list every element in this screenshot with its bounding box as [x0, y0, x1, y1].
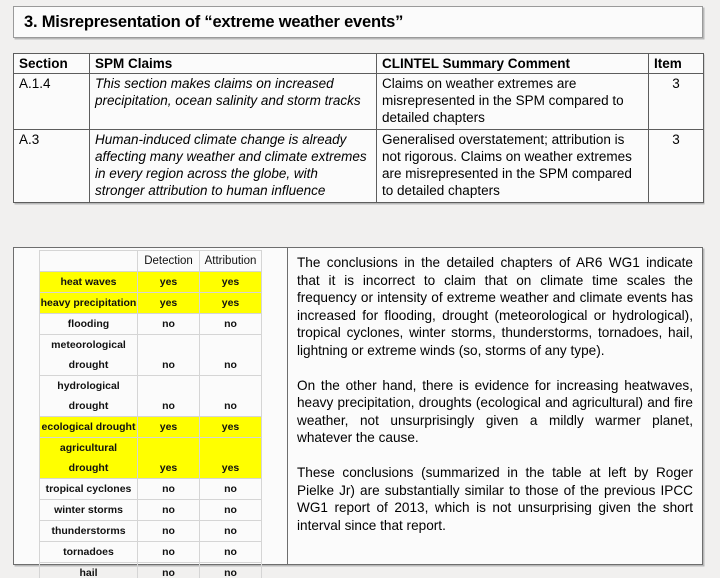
pielke-table-body: heat wavesyesyesheavy precipitationyesye…: [40, 272, 262, 578]
pielke-cell-label: heat waves: [40, 272, 138, 293]
table-row: A.3 Human-induced climate change is alre…: [14, 130, 704, 203]
pielke-cell-attribution: [200, 438, 262, 459]
pielke-cell-label: hail: [40, 563, 138, 578]
pielke-cell-detection: yes: [138, 272, 200, 293]
commentary-paragraph: These conclusions (summarized in the tab…: [297, 464, 693, 534]
table-row: heat wavesyesyes: [40, 272, 262, 293]
pielke-cell-detection: no: [138, 479, 200, 500]
pielke-cell-label: drought: [40, 458, 138, 479]
header-item: Item: [649, 54, 704, 74]
cell-item: 3: [649, 74, 704, 130]
table-row: agricultural: [40, 438, 262, 459]
pielke-cell-attribution: yes: [200, 458, 262, 479]
page-title: 3. Misrepresentation of “extreme weather…: [14, 13, 403, 32]
pielke-cell-detection: [138, 438, 200, 459]
table-row: tornadoesnono: [40, 542, 262, 563]
table-row: hailnono: [40, 563, 262, 578]
lower-panel: Detection Attribution heat wavesyesyeshe…: [13, 247, 703, 565]
pielke-cell-detection: no: [138, 396, 200, 417]
table-row: A.1.4 This section makes claims on incre…: [14, 74, 704, 130]
pielke-cell-label: hydrological: [40, 376, 138, 397]
pielke-cell-attribution: no: [200, 500, 262, 521]
pielke-table-pane: Detection Attribution heat wavesyesyeshe…: [14, 248, 288, 564]
pielke-cell-detection: no: [138, 355, 200, 376]
commentary-pane: The conclusions in the detailed chapters…: [288, 248, 702, 564]
commentary-paragraph: The conclusions in the detailed chapters…: [297, 254, 693, 360]
pielke-cell-attribution: no: [200, 521, 262, 542]
slide-page: 3. Misrepresentation of “extreme weather…: [0, 0, 720, 578]
cell-section: A.3: [14, 130, 90, 203]
pielke-cell-attribution: no: [200, 355, 262, 376]
pielke-cell-detection: yes: [138, 293, 200, 314]
table-row: winter stormsnono: [40, 500, 262, 521]
claims-table-header-row: Section SPM Claims CLINTEL Summary Comme…: [14, 54, 704, 74]
cell-clintel-comment: Generalised overstatement; attribution i…: [377, 130, 649, 203]
pielke-cell-label: agricultural: [40, 438, 138, 459]
pielke-cell-label: ecological drought: [40, 417, 138, 438]
cell-clintel-comment: Claims on weather extremes are misrepres…: [377, 74, 649, 130]
cell-spm-claim: This section makes claims on increased p…: [90, 74, 377, 130]
pielke-cell-detection: yes: [138, 458, 200, 479]
table-row: droughtnono: [40, 396, 262, 417]
pielke-cell-label: tropical cyclones: [40, 479, 138, 500]
cell-item: 3: [649, 130, 704, 203]
pielke-cell-attribution: no: [200, 479, 262, 500]
pielke-cell-attribution: yes: [200, 417, 262, 438]
pielke-cell-detection: no: [138, 542, 200, 563]
pielke-cell-label: drought: [40, 355, 138, 376]
table-row: floodingnono: [40, 314, 262, 335]
section-title-box: 3. Misrepresentation of “extreme weather…: [13, 6, 703, 38]
pielke-cell-attribution: [200, 335, 262, 356]
header-clintel: CLINTEL Summary Comment: [377, 54, 649, 74]
table-row: heavy precipitationyesyes: [40, 293, 262, 314]
cell-section: A.1.4: [14, 74, 90, 130]
table-row: hydrological: [40, 376, 262, 397]
pielke-detection-attribution-table: Detection Attribution heat wavesyesyeshe…: [39, 250, 262, 578]
claims-table-wrapper: Section SPM Claims CLINTEL Summary Comme…: [13, 53, 703, 203]
pielke-cell-label: heavy precipitation: [40, 293, 138, 314]
pielke-cell-label: drought: [40, 396, 138, 417]
pielke-cell-detection: yes: [138, 417, 200, 438]
header-section: Section: [14, 54, 90, 74]
pielke-cell-attribution: no: [200, 563, 262, 578]
pielke-cell-attribution: no: [200, 314, 262, 335]
table-row: thunderstormsnono: [40, 521, 262, 542]
header-spm: SPM Claims: [90, 54, 377, 74]
pielke-cell-label: thunderstorms: [40, 521, 138, 542]
pielke-cell-detection: [138, 335, 200, 356]
table-row: droughtyesyes: [40, 458, 262, 479]
table-row: droughtnono: [40, 355, 262, 376]
pielke-header-blank: [40, 251, 138, 272]
pielke-cell-label: tornadoes: [40, 542, 138, 563]
pielke-cell-detection: no: [138, 500, 200, 521]
pielke-cell-label: flooding: [40, 314, 138, 335]
pielke-cell-attribution: no: [200, 542, 262, 563]
pielke-cell-detection: no: [138, 563, 200, 578]
pielke-cell-detection: no: [138, 314, 200, 335]
pielke-cell-attribution: [200, 376, 262, 397]
table-row: tropical cyclonesnono: [40, 479, 262, 500]
pielke-cell-attribution: yes: [200, 293, 262, 314]
claims-table: Section SPM Claims CLINTEL Summary Comme…: [13, 53, 704, 203]
commentary-paragraph: On the other hand, there is evidence for…: [297, 377, 693, 447]
pielke-header-attribution: Attribution: [200, 251, 262, 272]
pielke-cell-attribution: no: [200, 396, 262, 417]
pielke-cell-detection: [138, 376, 200, 397]
pielke-cell-label: winter storms: [40, 500, 138, 521]
pielke-cell-attribution: yes: [200, 272, 262, 293]
pielke-cell-label: meteorological: [40, 335, 138, 356]
pielke-header-detection: Detection: [138, 251, 200, 272]
pielke-header-row: Detection Attribution: [40, 251, 262, 272]
cell-spm-claim: Human-induced climate change is already …: [90, 130, 377, 203]
pielke-cell-detection: no: [138, 521, 200, 542]
table-row: meteorological: [40, 335, 262, 356]
table-row: ecological droughtyesyes: [40, 417, 262, 438]
